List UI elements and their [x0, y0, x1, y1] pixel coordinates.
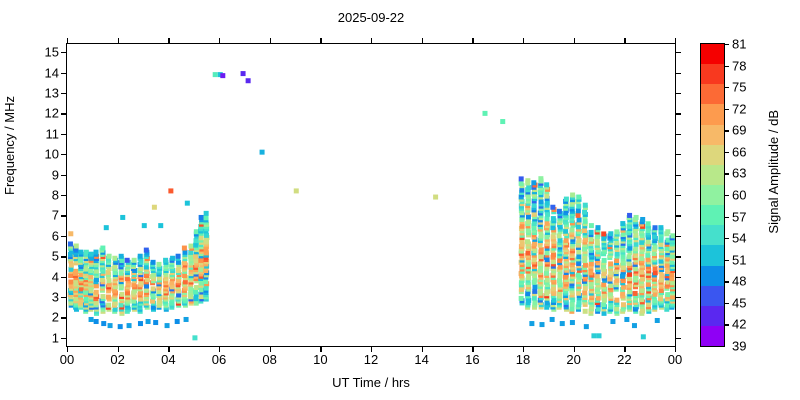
- data-point: [194, 229, 199, 234]
- data-point: [151, 286, 156, 291]
- data-point: [558, 238, 563, 243]
- colorbar-tick-label: 45: [732, 296, 746, 309]
- y-tick-label: 11: [46, 127, 60, 140]
- x-tick-label: 22: [617, 353, 631, 366]
- data-point: [595, 241, 600, 246]
- data-point: [652, 251, 657, 256]
- x-tick-mark-top: [371, 38, 372, 44]
- data-point: [68, 241, 73, 246]
- x-tick-label: 08: [262, 353, 276, 366]
- data-point: [545, 221, 550, 226]
- colorbar-swatch: [701, 84, 724, 104]
- y-axis-title: Frequency / MHz: [2, 96, 17, 195]
- data-point: [570, 306, 575, 311]
- y-tick-mark: [61, 93, 67, 94]
- y-tick-mark: [61, 215, 67, 216]
- data-point: [526, 251, 531, 256]
- data-point: [119, 292, 124, 297]
- data-point: [204, 211, 209, 216]
- data-point: [538, 176, 543, 181]
- y-tick-mark-right: [675, 195, 681, 196]
- data-point: [194, 301, 199, 306]
- x-tick-label: 00: [668, 353, 682, 366]
- data-point: [165, 323, 170, 328]
- data-point: [584, 324, 589, 329]
- colorbar-swatch: [701, 306, 724, 326]
- y-tick-mark: [61, 277, 67, 278]
- data-point: [583, 263, 588, 268]
- data-point: [94, 290, 99, 295]
- data-point: [632, 323, 637, 328]
- data-point: [589, 223, 594, 228]
- data-point: [621, 285, 626, 290]
- data-point: [108, 323, 113, 328]
- x-tick-label: 16: [465, 353, 479, 366]
- data-point: [545, 200, 550, 205]
- data-point: [199, 235, 204, 240]
- colorbar-swatch: [701, 245, 724, 265]
- data-point: [433, 195, 438, 200]
- data-point: [526, 275, 531, 280]
- data-point: [538, 261, 543, 266]
- x-tick-mark-top: [523, 38, 524, 44]
- y-tick-mark-right: [675, 73, 681, 74]
- data-point: [193, 289, 198, 294]
- x-tick-label: 18: [516, 353, 530, 366]
- data-point: [138, 254, 143, 259]
- data-point: [583, 203, 588, 208]
- data-point: [532, 278, 537, 283]
- data-point: [596, 225, 601, 230]
- colorbar-tick-label: 69: [732, 124, 746, 137]
- data-point: [551, 252, 556, 257]
- y-tick-label: 8: [52, 189, 59, 202]
- colorbar-tick-mark: [724, 173, 729, 174]
- data-point: [104, 225, 109, 230]
- data-point: [519, 188, 524, 193]
- page-title: 2025-09-22: [0, 10, 742, 26]
- data-point: [550, 205, 555, 210]
- data-point: [532, 284, 537, 289]
- data-point: [576, 195, 581, 200]
- data-point: [519, 181, 524, 186]
- y-tick-mark-right: [675, 256, 681, 257]
- data-point: [78, 250, 83, 255]
- data-point: [540, 322, 545, 327]
- y-tick-label: 4: [52, 270, 59, 283]
- colorbar-swatch: [701, 225, 724, 245]
- data-point: [68, 279, 73, 284]
- data-point: [583, 309, 588, 314]
- data-point: [602, 311, 607, 316]
- data-point: [127, 323, 132, 328]
- colorbar-swatch: [701, 145, 724, 165]
- data-point: [545, 216, 550, 221]
- y-tick-mark-right: [675, 175, 681, 176]
- data-point: [597, 333, 602, 338]
- data-point: [645, 253, 650, 258]
- colorbar-tick-label: 75: [732, 81, 746, 94]
- data-point: [551, 216, 556, 221]
- y-tick-mark-right: [675, 113, 681, 114]
- data-point: [576, 213, 581, 218]
- x-tick-mark-top: [320, 38, 321, 44]
- data-point: [526, 228, 531, 233]
- data-point: [627, 283, 632, 288]
- data-point: [633, 246, 638, 251]
- data-point: [577, 238, 582, 243]
- data-point: [653, 270, 658, 275]
- data-point: [570, 193, 575, 198]
- colorbar-tick-mark: [724, 195, 729, 196]
- figure-canvas: 2025-09-22 12345678910111213141500020406…: [0, 0, 800, 400]
- data-point: [653, 225, 658, 230]
- data-point: [646, 221, 651, 226]
- data-point: [620, 221, 625, 226]
- data-point: [615, 251, 620, 256]
- x-tick-mark-top: [422, 38, 423, 44]
- data-point: [158, 223, 163, 228]
- data-point: [545, 250, 550, 255]
- data-point: [500, 119, 505, 124]
- data-point: [614, 258, 619, 263]
- colorbar-swatch: [701, 266, 724, 286]
- colorbar-swatch: [701, 286, 724, 306]
- data-point: [601, 302, 606, 307]
- data-point: [112, 256, 117, 261]
- data-point: [193, 254, 198, 259]
- x-tick-mark-top: [219, 38, 220, 44]
- y-tick-label: 6: [52, 229, 59, 242]
- x-tick-label: 06: [212, 353, 226, 366]
- data-point: [589, 261, 594, 266]
- data-point: [564, 197, 569, 202]
- y-tick-mark-right: [675, 277, 681, 278]
- data-point: [582, 210, 587, 215]
- colorbar-tick-mark: [724, 303, 729, 304]
- data-point: [532, 203, 537, 208]
- colorbar-tick-label: 48: [732, 275, 746, 288]
- data-point: [138, 321, 143, 326]
- colorbar-swatch: [701, 326, 724, 346]
- colorbar-title: Signal Amplitude / dB: [766, 110, 781, 234]
- data-point: [483, 111, 488, 116]
- data-point: [184, 317, 189, 322]
- data-point: [601, 282, 606, 287]
- data-point: [665, 292, 670, 297]
- x-tick-label: 10: [313, 353, 327, 366]
- colorbar-tick-label: 78: [732, 59, 746, 72]
- data-point: [614, 298, 619, 303]
- data-point: [175, 319, 180, 324]
- data-point: [576, 254, 581, 259]
- data-point: [163, 258, 168, 263]
- y-tick-mark: [61, 195, 67, 196]
- x-tick-label: 04: [161, 353, 175, 366]
- data-point: [633, 233, 638, 238]
- colorbar-tick-mark: [724, 238, 729, 239]
- colorbar-swatch: [701, 165, 724, 185]
- y-tick-mark: [61, 236, 67, 237]
- data-point: [100, 294, 105, 299]
- data-point: [577, 217, 582, 222]
- plot-axes: 1234567891011121314150002040608101214161…: [66, 43, 676, 347]
- data-point: [544, 194, 549, 199]
- data-point: [641, 334, 646, 339]
- x-tick-mark-top: [675, 38, 676, 44]
- colorbar-tick-label: 72: [732, 102, 746, 115]
- data-point: [260, 150, 265, 155]
- y-tick-label: 3: [52, 291, 59, 304]
- colorbar-swatch: [701, 104, 724, 124]
- y-tick-label: 9: [52, 168, 59, 181]
- data-point: [614, 240, 619, 245]
- colorbar-swatch: [701, 125, 724, 145]
- data-point: [100, 246, 105, 251]
- colorbar-tick-mark: [724, 324, 729, 325]
- data-point: [582, 228, 587, 233]
- data-point: [182, 246, 187, 251]
- data-point: [220, 73, 225, 78]
- y-tick-mark: [61, 113, 67, 114]
- data-point: [563, 229, 568, 234]
- data-point: [583, 286, 588, 291]
- data-point: [106, 295, 111, 300]
- data-point: [157, 262, 162, 267]
- data-point: [627, 213, 632, 218]
- data-point: [577, 300, 582, 305]
- y-tick-mark-right: [675, 297, 681, 298]
- colorbar-swatch: [701, 44, 724, 64]
- y-tick-label: 14: [45, 66, 59, 79]
- data-point: [204, 248, 209, 253]
- colorbar-tick-label: 42: [732, 318, 746, 331]
- colorbar-tick-mark: [724, 260, 729, 261]
- colorbar-tick-label: 63: [732, 167, 746, 180]
- x-tick-label: 02: [110, 353, 124, 366]
- data-point: [101, 321, 106, 326]
- colorbar-tick-mark: [724, 217, 729, 218]
- data-point: [194, 258, 199, 263]
- data-point: [203, 279, 208, 284]
- data-point: [658, 225, 663, 230]
- data-point: [608, 231, 613, 236]
- colorbar-tick-label: 39: [732, 340, 746, 353]
- colorbar-tick-label: 57: [732, 210, 746, 223]
- data-point: [151, 260, 156, 265]
- x-tick-mark-top: [67, 38, 68, 44]
- data-point: [653, 266, 658, 271]
- y-tick-label: 12: [45, 107, 59, 120]
- colorbar-tick-mark: [724, 281, 729, 282]
- y-tick-label: 2: [52, 311, 59, 324]
- data-point: [539, 233, 544, 238]
- colorbar-tick-mark: [724, 130, 729, 131]
- colorbar-tick-label: 51: [732, 253, 746, 266]
- data-point: [198, 258, 203, 263]
- data-point: [589, 230, 594, 235]
- data-point: [526, 214, 531, 219]
- data-point: [570, 227, 575, 232]
- y-tick-mark-right: [675, 215, 681, 216]
- x-tick-mark-top: [168, 38, 169, 44]
- data-point: [544, 182, 549, 187]
- data-point: [538, 268, 543, 273]
- data-point: [621, 302, 626, 307]
- data-point: [88, 252, 93, 257]
- data-point: [188, 244, 193, 249]
- data-point: [168, 188, 173, 193]
- y-tick-mark-right: [675, 317, 681, 318]
- data-point: [558, 265, 563, 270]
- data-point: [519, 296, 524, 301]
- data-point: [614, 306, 619, 311]
- data-point: [576, 204, 581, 209]
- data-point: [557, 274, 562, 279]
- data-point: [241, 71, 246, 76]
- data-point: [564, 238, 569, 243]
- data-point: [583, 219, 588, 224]
- colorbar-swatch: [701, 205, 724, 225]
- data-point: [639, 256, 644, 261]
- y-tick-mark: [61, 256, 67, 257]
- x-tick-mark-top: [624, 38, 625, 44]
- data-point: [551, 298, 556, 303]
- y-tick-mark: [61, 338, 67, 339]
- y-tick-label: 13: [45, 86, 59, 99]
- colorbar-tick-mark: [724, 152, 729, 153]
- y-tick-mark: [61, 154, 67, 155]
- data-point: [576, 272, 581, 277]
- data-point: [68, 231, 73, 236]
- y-tick-mark: [61, 52, 67, 53]
- data-point: [526, 219, 531, 224]
- data-point: [146, 319, 151, 324]
- y-tick-mark-right: [675, 338, 681, 339]
- data-point: [557, 209, 562, 214]
- data-point: [94, 250, 99, 255]
- data-point: [640, 217, 645, 222]
- y-tick-label: 7: [52, 209, 59, 222]
- data-point: [526, 185, 531, 190]
- data-point: [120, 215, 125, 220]
- data-point: [170, 256, 175, 261]
- colorbar-tick-label: 54: [732, 232, 746, 245]
- colorbar-tick-label: 66: [732, 145, 746, 158]
- data-point: [204, 215, 209, 220]
- colorbar-swatch: [701, 64, 724, 84]
- data-point: [539, 247, 544, 252]
- y-tick-mark-right: [675, 134, 681, 135]
- plot-data-area: [67, 44, 675, 346]
- data-point: [531, 180, 536, 185]
- x-tick-label: 14: [414, 353, 428, 366]
- data-point: [545, 278, 550, 283]
- data-point: [185, 201, 190, 206]
- data-point: [176, 254, 181, 259]
- data-point: [608, 270, 613, 275]
- data-point: [532, 296, 537, 301]
- data-point: [640, 309, 645, 314]
- data-point: [595, 274, 600, 279]
- data-point: [192, 335, 197, 340]
- data-point: [74, 269, 79, 274]
- data-point: [591, 333, 596, 338]
- data-point: [596, 307, 601, 312]
- y-tick-mark-right: [675, 93, 681, 94]
- data-point: [525, 239, 530, 244]
- data-point: [653, 245, 658, 250]
- data-point: [557, 233, 562, 238]
- data-point: [646, 282, 651, 287]
- data-point: [194, 296, 199, 301]
- data-point: [582, 290, 587, 295]
- data-point: [627, 254, 632, 259]
- colorbar-tick-label: 81: [732, 38, 746, 51]
- data-point: [596, 296, 601, 301]
- data-point: [532, 289, 537, 294]
- data-point: [588, 237, 593, 242]
- data-point: [118, 324, 123, 329]
- data-point: [142, 223, 147, 228]
- data-point: [652, 298, 657, 303]
- y-tick-mark-right: [675, 52, 681, 53]
- x-tick-label: 12: [364, 353, 378, 366]
- data-point: [570, 302, 575, 307]
- x-tick-label: 20: [566, 353, 580, 366]
- data-point: [525, 178, 530, 183]
- data-point: [608, 283, 613, 288]
- data-point: [576, 291, 581, 296]
- data-point: [199, 215, 204, 220]
- data-point: [529, 321, 534, 326]
- data-point: [634, 242, 639, 247]
- data-point: [194, 285, 199, 290]
- data-point: [545, 300, 550, 305]
- data-point: [624, 317, 629, 322]
- data-point: [601, 231, 606, 236]
- y-tick-mark: [61, 73, 67, 74]
- x-tick-mark-top: [270, 38, 271, 44]
- data-point: [665, 229, 670, 234]
- colorbar-tick-mark: [724, 44, 729, 45]
- data-point: [538, 199, 543, 204]
- data-point: [627, 272, 632, 277]
- x-tick-mark-top: [472, 38, 473, 44]
- data-point: [620, 291, 625, 296]
- data-point: [532, 300, 537, 305]
- data-point: [152, 205, 157, 210]
- data-point: [246, 78, 251, 83]
- x-tick-mark-top: [574, 38, 575, 44]
- y-tick-mark-right: [675, 236, 681, 237]
- data-point: [153, 320, 158, 325]
- data-markers: [67, 44, 675, 346]
- y-tick-mark: [61, 175, 67, 176]
- data-point: [614, 278, 619, 283]
- data-point: [119, 254, 124, 259]
- y-tick-mark: [61, 297, 67, 298]
- data-point: [89, 317, 94, 322]
- data-point: [634, 215, 639, 220]
- colorbar-tick-mark: [724, 66, 729, 67]
- data-point: [557, 278, 562, 283]
- data-point: [614, 229, 619, 234]
- data-point: [294, 188, 299, 193]
- data-point: [633, 291, 638, 296]
- data-point: [107, 254, 112, 259]
- data-point: [602, 258, 607, 263]
